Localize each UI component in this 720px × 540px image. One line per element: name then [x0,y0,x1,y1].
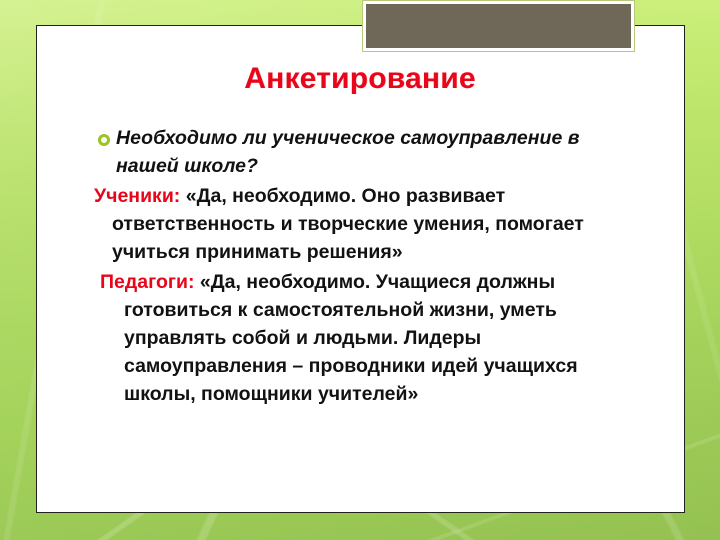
bullet-circle-icon [98,134,110,146]
question-text: Необходимо ли ученическое самоуправление… [116,127,580,177]
teachers-label: Педагоги: [100,271,200,293]
slide: Анкетирование Необходимо ли ученическое … [0,0,720,540]
teachers-answer: Педагоги: «Да, необходимо. Учащиеся долж… [94,268,624,408]
picture-placeholder-fill [366,4,631,48]
slide-title: Анкетирование [0,62,720,96]
picture-placeholder [362,0,635,52]
students-label: Ученики: [94,185,186,207]
bullet-item-question: Необходимо ли ученическое самоуправление… [94,124,624,180]
students-answer: Ученики: «Да, необходимо. Оно развивает … [94,182,624,266]
slide-body: Необходимо ли ученическое самоуправление… [94,124,624,408]
